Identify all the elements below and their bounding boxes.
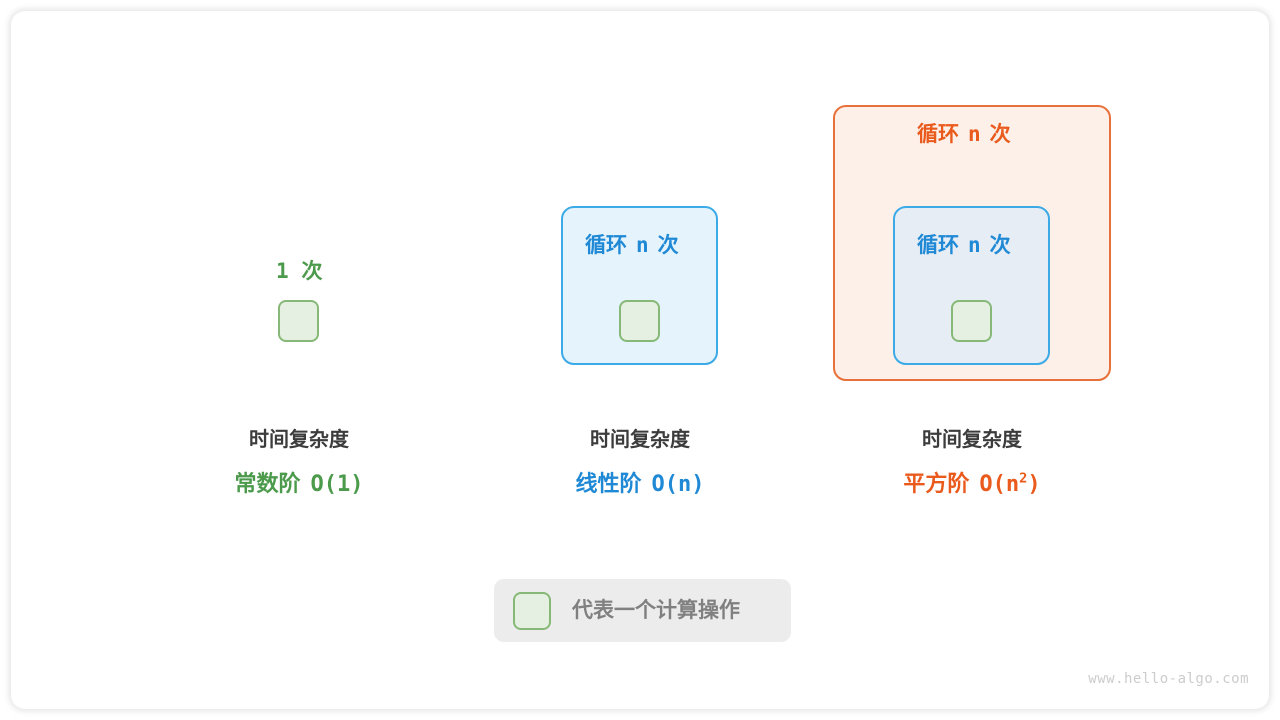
quadratic-outer-var: n	[968, 122, 981, 146]
quadratic-outer-prefix: 循环	[917, 122, 959, 146]
operation-square-constant	[278, 300, 319, 342]
quadratic-outer-loop-label: 循环n次	[917, 124, 1011, 145]
caption-value-linear: 线性阶O(n)	[519, 473, 761, 496]
caption-title-quadratic: 时间复杂度	[851, 429, 1093, 449]
caption-bigo-constant: O(1)	[311, 472, 364, 497]
constant-count-unit: 次	[302, 259, 323, 283]
quadratic-outer-suffix: 次	[990, 122, 1011, 146]
caption-title-constant: 时间复杂度	[178, 429, 420, 449]
legend-operation-swatch	[513, 592, 551, 630]
quadratic-inner-prefix: 循环	[917, 233, 959, 257]
watermark: www.hello-algo.com	[1088, 671, 1249, 687]
legend-label: 代表一个计算操作	[572, 600, 740, 621]
constant-count-number: 1	[276, 259, 289, 283]
caption-order-quadratic: 平方阶	[903, 472, 969, 497]
operation-square-quadratic	[951, 300, 992, 342]
caption-title-linear: 时间复杂度	[519, 429, 761, 449]
linear-loop-suffix: 次	[658, 233, 679, 257]
diagram-canvas: 1 次 循环n次 循环n次 循环n次 时间复杂度 常数阶O(1) 时间复杂度	[0, 0, 1280, 720]
caption-value-constant: 常数阶O(1)	[178, 473, 420, 496]
quadratic-inner-var: n	[968, 233, 981, 257]
caption-bigo-linear: O(n)	[652, 472, 705, 497]
caption-bigo-quadratic-close: )	[1027, 472, 1040, 497]
caption-quadratic: 时间复杂度 平方阶O(n2)	[851, 429, 1093, 496]
linear-loop-prefix: 循环	[585, 233, 627, 257]
legend: 代表一个计算操作	[494, 579, 791, 642]
quadratic-inner-suffix: 次	[990, 233, 1011, 257]
caption-order-constant: 常数阶	[235, 472, 301, 497]
constant-count-label: 1 次	[276, 261, 323, 282]
linear-loop-label: 循环n次	[585, 235, 679, 256]
linear-loop-var: n	[636, 233, 649, 257]
quadratic-inner-loop-label: 循环n次	[917, 235, 1011, 256]
caption-constant: 时间复杂度 常数阶O(1)	[178, 429, 420, 496]
caption-order-linear: 线性阶	[576, 472, 642, 497]
operation-square-linear	[619, 300, 660, 342]
caption-linear: 时间复杂度 线性阶O(n)	[519, 429, 761, 496]
caption-bigo-quadratic-base: O(n	[979, 472, 1019, 497]
caption-value-quadratic: 平方阶O(n2)	[851, 473, 1093, 496]
